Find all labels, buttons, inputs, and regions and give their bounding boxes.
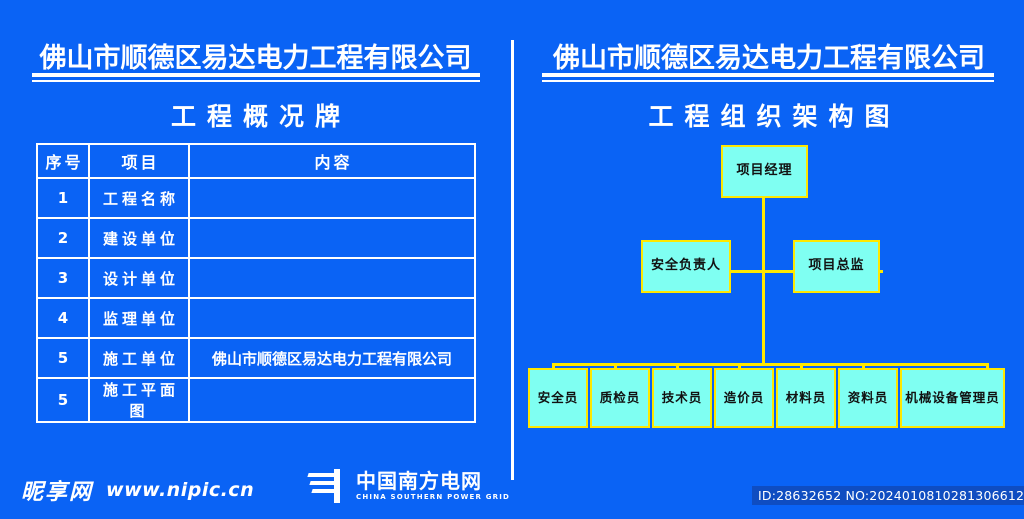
org-node-equipment-manager[interactable]: 机械设备管理员	[900, 368, 1005, 428]
image-id-badge: ID:28632652 NO:20240108102813066121	[752, 486, 1024, 505]
table-row: 1 工程名称	[37, 178, 475, 218]
nipic-logo: 昵享网	[18, 473, 96, 507]
left-company-title: 佛山市顺德区易达电力工程有限公司	[0, 36, 511, 75]
cell-content	[189, 218, 475, 258]
csg-name-en: CHINA SOUTHERN POWER GRID	[356, 494, 510, 501]
cell-content	[189, 378, 475, 422]
org-node-cost-estimator[interactable]: 造价员	[714, 368, 774, 428]
org-node-project-director[interactable]: 项目总监	[793, 240, 880, 293]
connector-manager-to-bus	[762, 198, 765, 272]
org-node-document-clerk[interactable]: 资料员	[838, 368, 898, 428]
cell-no: 5	[37, 338, 89, 378]
left-panel: 佛山市顺德区易达电力工程有限公司 工程概况牌 序号 项目 内容 1 工程名称	[0, 0, 511, 519]
org-node-project-manager[interactable]: 项目经理	[721, 145, 808, 198]
table-row: 3 设计单位	[37, 258, 475, 298]
org-chart: 项目经理 安全负责人 项目总监 安全员 质检员 技术员 造价员 材料员 资料员 …	[514, 0, 1024, 519]
cell-item: 建设单位	[89, 218, 189, 258]
project-overview-table: 序号 项目 内容 1 工程名称 2 建设单位 3 设计单位	[36, 143, 476, 423]
csg-logo-text: 中国南方电网 CHINA SOUTHERN POWER GRID	[356, 471, 510, 501]
cell-content	[189, 178, 475, 218]
cell-item: 施工平面图	[89, 378, 189, 422]
table-row: 5 施工平面图	[37, 378, 475, 422]
cell-item: 设计单位	[89, 258, 189, 298]
cell-content: 佛山市顺德区易达电力工程有限公司	[189, 338, 475, 378]
cell-item: 工程名称	[89, 178, 189, 218]
cell-no: 5	[37, 378, 89, 422]
table-header-row: 序号 项目 内容	[37, 144, 475, 178]
cell-content	[189, 298, 475, 338]
org-node-safety-officer[interactable]: 安全负责人	[641, 240, 731, 293]
connector-bus-to-level3	[762, 270, 765, 365]
header-no: 序号	[37, 144, 89, 178]
table-row: 4 监理单位	[37, 298, 475, 338]
csg-name-cn: 中国南方电网	[356, 471, 510, 491]
org-node-quality-inspector[interactable]: 质检员	[590, 368, 650, 428]
left-title-rules	[32, 73, 480, 82]
right-panel: 佛山市顺德区易达电力工程有限公司 工程组织架构图 项目经理 安全负责人 项目总监	[514, 0, 1024, 519]
table-row: 5 施工单位 佛山市顺德区易达电力工程有限公司	[37, 338, 475, 378]
poster-board: 佛山市顺德区易达电力工程有限公司 工程概况牌 序号 项目 内容 1 工程名称	[0, 0, 1024, 519]
cell-no: 4	[37, 298, 89, 338]
org-node-technician[interactable]: 技术员	[652, 368, 712, 428]
left-footer: 昵享网 www.nipic.cn 中国南方电网 CHINA SOUTHERN P…	[0, 457, 511, 519]
org-node-safety-staff[interactable]: 安全员	[528, 368, 588, 428]
left-board-subtitle: 工程概况牌	[0, 97, 511, 133]
org-node-material-clerk[interactable]: 材料员	[776, 368, 836, 428]
connector-level3-bus	[552, 363, 989, 366]
cell-item: 施工单位	[89, 338, 189, 378]
header-item: 项目	[89, 144, 189, 178]
cell-no: 3	[37, 258, 89, 298]
header-content: 内容	[189, 144, 475, 178]
nipic-watermark: 昵享网 www.nipic.cn	[18, 473, 254, 507]
cell-no: 1	[37, 178, 89, 218]
csg-mark-icon	[308, 469, 348, 503]
cell-content	[189, 258, 475, 298]
table-row: 2 建设单位	[37, 218, 475, 258]
csg-logo-left: 中国南方电网 CHINA SOUTHERN POWER GRID	[308, 469, 510, 503]
nipic-url: www.nipic.cn	[106, 479, 254, 501]
cell-item: 监理单位	[89, 298, 189, 338]
cell-no: 2	[37, 218, 89, 258]
